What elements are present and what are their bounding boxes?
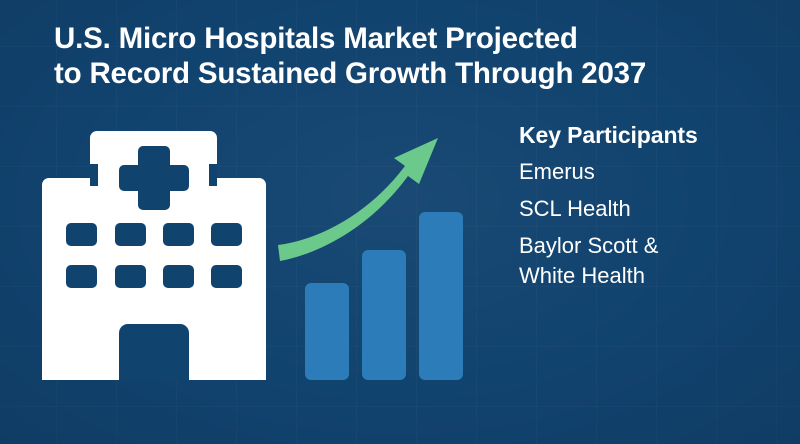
- key-participants-block: Key Participants Emerus SCL Health Baylo…: [519, 121, 785, 298]
- headline-line-1: U.S. Micro Hospitals Market Projected: [54, 21, 784, 56]
- hospital-building-icon: [38, 126, 270, 380]
- participant-item-3: Baylor Scott & White Health: [519, 231, 709, 291]
- infographic-canvas: U.S. Micro Hospitals Market Projected to…: [0, 0, 800, 444]
- participant-item-1: Emerus: [519, 157, 709, 187]
- building-entrance-door: [119, 324, 189, 380]
- chart-bar-3: [419, 212, 463, 380]
- growth-arrow-icon: [278, 138, 438, 261]
- page-title: U.S. Micro Hospitals Market Projected to…: [54, 21, 784, 91]
- headline-line-2: to Record Sustained Growth Through 2037: [54, 56, 784, 91]
- growth-bar-chart: [278, 132, 468, 380]
- chart-bar-1: [305, 283, 349, 380]
- key-participants-heading: Key Participants: [519, 121, 785, 149]
- participant-item-2: SCL Health: [519, 194, 709, 224]
- chart-bar-2: [362, 250, 406, 380]
